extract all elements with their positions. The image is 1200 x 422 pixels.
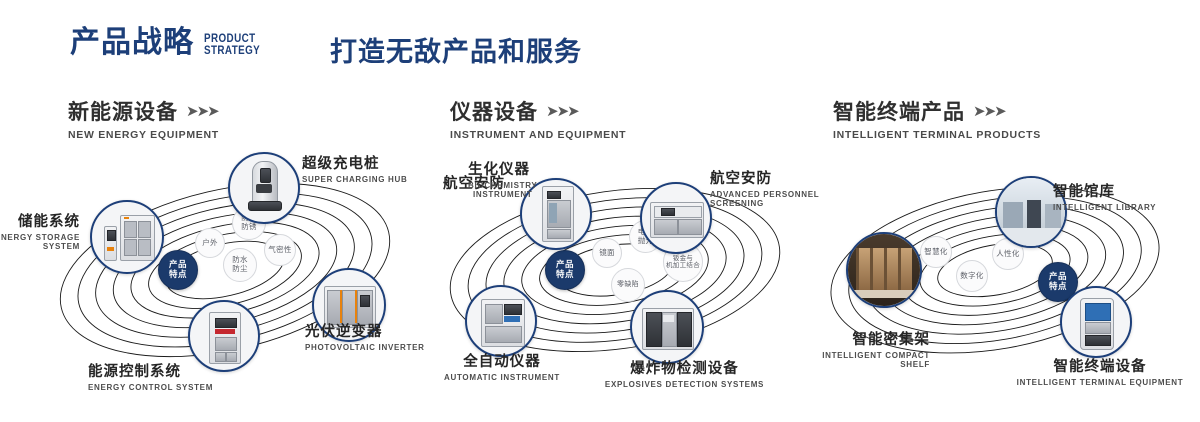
label-en: ENERGY STORAGE SYSTEM xyxy=(0,233,80,251)
label-en: ENERGY CONTROL SYSTEM xyxy=(88,383,213,392)
core-bubble-line2: 特点 xyxy=(556,269,574,279)
automatic-instrument-photo xyxy=(467,287,535,355)
section-title-en: INSTRUMENT AND EQUIPMENT xyxy=(450,129,626,141)
chevron-right-icon: ➤➤➤ xyxy=(186,102,218,120)
label-en-line1: ADVANCED PERSONNEL xyxy=(710,190,819,199)
label-cn: 智能馆库 xyxy=(1053,180,1156,201)
node-automatic-instrument[interactable] xyxy=(465,285,537,357)
core-bubble-line1: 产品 xyxy=(1049,271,1067,281)
node-explosives-detection[interactable] xyxy=(630,290,704,364)
label-en-line2: INSTRUMENT xyxy=(473,190,532,199)
label-cn: 爆炸物检测设备 xyxy=(597,357,772,378)
label-en: BIOCHEMISTRY INSTRUMENT xyxy=(468,181,537,199)
label-automatic-instrument: 全自动仪器 AUTOMATIC INSTRUMENT xyxy=(437,350,567,382)
section-header-instrument: 仪器设备➤➤➤ INSTRUMENT AND EQUIPMENT xyxy=(450,96,626,141)
label-en-line1: BIOCHEMISTRY xyxy=(468,181,537,190)
feature-line1: 零缺陷 xyxy=(617,281,639,288)
feature-line2: 机加工结合 xyxy=(666,262,700,269)
label-energy-storage-system: 储能系统 ENERGY STORAGE SYSTEM xyxy=(0,210,80,251)
chevron-right-icon: ➤➤➤ xyxy=(546,102,578,120)
feature-bubble-waterproof[interactable]: 防水防尘 xyxy=(223,248,257,282)
page-title-cn: 产品战略 xyxy=(70,28,194,58)
feature-line1: 镜面 xyxy=(599,248,615,257)
node-intelligent-compact-shelf[interactable] xyxy=(846,232,922,308)
feature-line1: 户外 xyxy=(202,238,218,247)
section-header-new-energy: 新能源设备➤➤➤ NEW ENERGY EQUIPMENT xyxy=(68,96,219,141)
energy-storage-photo xyxy=(92,202,162,272)
section-title-en: INTELLIGENT TERMINAL PRODUCTS xyxy=(833,129,1041,141)
core-bubble-line2: 特点 xyxy=(169,269,187,279)
label-cn: 智能终端设备 xyxy=(1005,355,1195,376)
feature-line1: 数字化 xyxy=(960,271,983,280)
label-en: INTELLIGENT TERMINAL EQUIPMENT xyxy=(1005,378,1195,387)
explosives-detection-photo xyxy=(632,292,702,362)
label-en-line2: SHELF xyxy=(900,360,930,369)
feature-bubble-mirror[interactable]: 镜面 xyxy=(592,238,622,268)
charging-hub-photo xyxy=(230,154,298,222)
feature-line2: 防尘 xyxy=(232,264,248,273)
page-subtitle: 打造无敌产品和服务 xyxy=(330,30,582,69)
node-energy-storage-system[interactable] xyxy=(90,200,164,274)
section-title-en: NEW ENERGY EQUIPMENT xyxy=(68,129,219,141)
node-advanced-personnel-screening[interactable] xyxy=(640,182,712,254)
label-energy-control-system: 能源控制系统 ENERGY CONTROL SYSTEM xyxy=(88,360,213,392)
label-cn: 能源控制系统 xyxy=(88,360,213,381)
section-header-intelligent: 智能终端产品➤➤➤ INTELLIGENT TERMINAL PRODUCTS xyxy=(833,96,1041,141)
label-en-line2: SCREENING xyxy=(710,199,764,208)
label-cn: 航空安防 xyxy=(710,167,819,188)
page-title-en: PRODUCT STRATEGY xyxy=(204,33,260,56)
core-bubble-product-features[interactable]: 产品特点 xyxy=(158,250,198,290)
section-title-cn: 智能终端产品 xyxy=(833,96,965,126)
label-intelligent-library: 智能馆库 INTELLIGENT LIBRARY xyxy=(1053,180,1156,212)
label-en: PHOTOVOLTAIC INVERTER xyxy=(305,343,425,352)
label-cn: 储能系统 xyxy=(0,210,80,231)
feature-bubble-digital[interactable]: 数字化 xyxy=(956,260,988,292)
node-intelligent-terminal-equipment[interactable] xyxy=(1060,286,1132,358)
label-cn: 超级充电桩 xyxy=(302,152,408,173)
page-title-en-line2: STRATEGY xyxy=(204,45,260,56)
label-en-line2: SYSTEM xyxy=(43,242,80,251)
feature-bubble-outdoor[interactable]: 户外 xyxy=(195,228,225,258)
core-bubble-line1: 产品 xyxy=(169,259,187,269)
chevron-right-icon: ➤➤➤ xyxy=(973,102,1005,120)
label-cn: 全自动仪器 xyxy=(437,350,567,371)
cluster-new-energy: 产品特点 户外 防腐防锈 防水防尘 气密性 xyxy=(40,150,440,400)
feature-line1: 钣金与 xyxy=(673,255,693,262)
label-intelligent-compact-shelf: 智能密集架 INTELLIGENT COMPACT SHELF xyxy=(805,328,930,369)
feature-line1: 气密性 xyxy=(268,245,291,254)
cluster-intelligent: 智慧化 数字化 人性化 产品特点 xyxy=(810,150,1200,400)
feature-bubble-airtight[interactable]: 气密性 xyxy=(264,234,296,266)
page-title: 产品战略 PRODUCT STRATEGY xyxy=(70,28,272,58)
terminal-equipment-photo xyxy=(1062,288,1130,356)
cluster-instrument: 产品特点 镜面 电解抛光 钣金与机加工结合 零缺陷 xyxy=(425,150,825,400)
section-title-cn: 新能源设备 xyxy=(68,96,178,126)
label-en-line1: ENERGY STORAGE xyxy=(0,233,80,242)
label-en: EXPLOSIVES DETECTION SYSTEMS xyxy=(597,380,772,389)
label-explosives-detection: 爆炸物检测设备 EXPLOSIVES DETECTION SYSTEMS xyxy=(597,357,772,389)
label-en: ADVANCED PERSONNEL SCREENING xyxy=(710,190,819,208)
label-cn: 光伏逆变器 xyxy=(305,320,425,341)
label-en-line1: INTELLIGENT COMPACT xyxy=(822,351,930,360)
label-biochemistry-instrument: 生化仪器 BIOCHEMISTRY INSTRUMENT xyxy=(468,158,537,199)
label-cn: 生化仪器 xyxy=(468,158,537,179)
feature-bubble-smart[interactable]: 智慧化 xyxy=(920,236,952,268)
section-title-cn: 仪器设备 xyxy=(450,96,538,126)
personnel-screening-photo xyxy=(642,184,710,252)
node-super-charging-hub[interactable] xyxy=(228,152,300,224)
label-en: AUTOMATIC INSTRUMENT xyxy=(437,373,567,382)
core-bubble-product-features[interactable]: 产品特点 xyxy=(545,250,585,290)
label-intelligent-terminal-equipment: 智能终端设备 INTELLIGENT TERMINAL EQUIPMENT xyxy=(1005,355,1195,387)
label-photovoltaic-inverter: 光伏逆变器 PHOTOVOLTAIC INVERTER xyxy=(305,320,425,352)
label-cn: 智能密集架 xyxy=(805,328,930,349)
feature-line1: 智慧化 xyxy=(924,247,947,256)
label-advanced-personnel-screening: 航空安防 ADVANCED PERSONNEL SCREENING xyxy=(710,167,819,208)
label-en: INTELLIGENT LIBRARY xyxy=(1053,203,1156,212)
label-en: INTELLIGENT COMPACT SHELF xyxy=(805,351,930,369)
feature-line1: 人性化 xyxy=(996,249,1019,258)
core-bubble-line1: 产品 xyxy=(556,259,574,269)
compact-shelf-photo xyxy=(848,234,920,306)
feature-line2: 防锈 xyxy=(241,222,257,231)
